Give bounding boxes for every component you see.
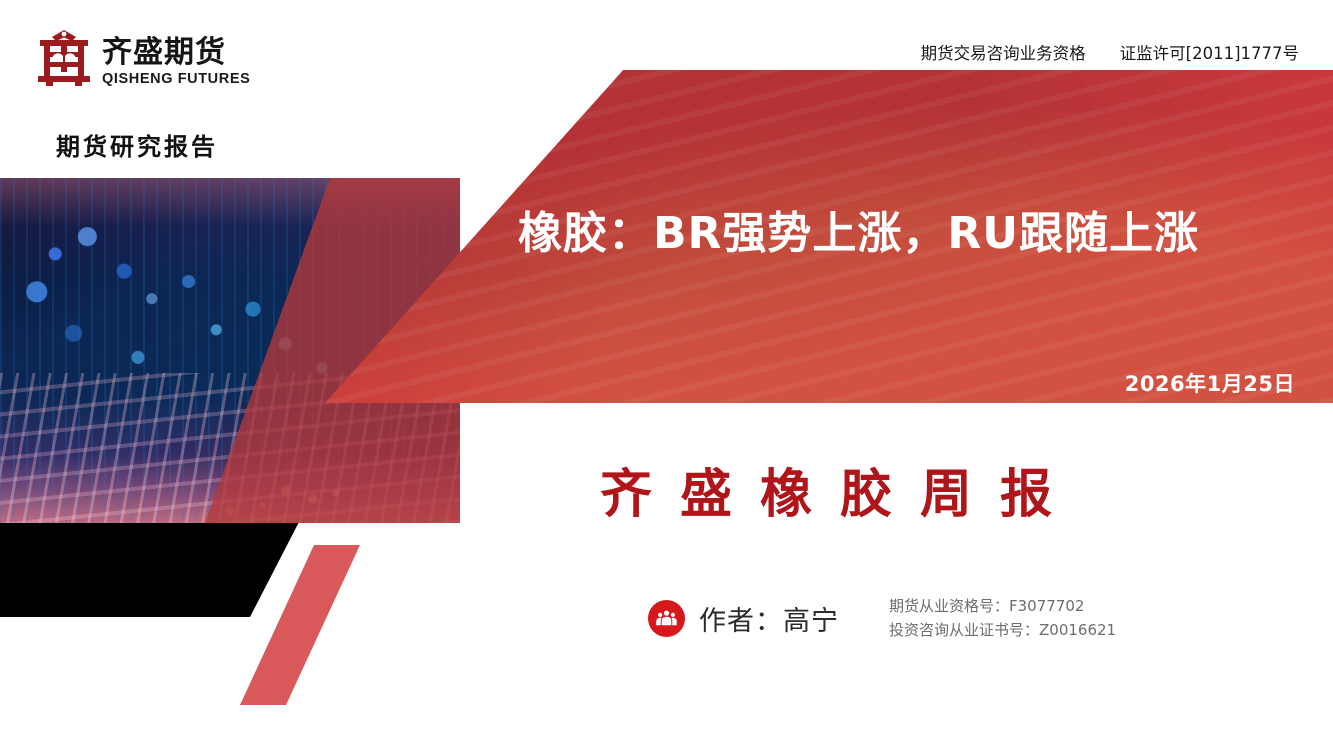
qisheng-seal-logo-icon bbox=[36, 28, 92, 86]
people-group-icon bbox=[648, 600, 685, 637]
people-group-glyph bbox=[655, 607, 678, 630]
business-qualification-text: 期货交易咨询业务资格 bbox=[921, 40, 1086, 64]
logo-wordmark: 齐盛期货 QISHENG FUTURES bbox=[102, 38, 250, 87]
author-block: 作者：高宁 期货从业资格号：F3077702 投资咨询从业证书号：Z001662… bbox=[648, 598, 1116, 640]
logo-name-en: QISHENG FUTURES bbox=[102, 72, 250, 87]
company-logo: 齐盛期货 QISHENG FUTURES bbox=[36, 28, 250, 86]
black-wedge-shape bbox=[0, 520, 300, 617]
page-header: 齐盛期货 QISHENG FUTURES 期货交易咨询业务资格 证监许可[201… bbox=[0, 0, 1333, 70]
header-credentials: 期货交易咨询业务资格 证监许可[2011]1777号 bbox=[921, 40, 1299, 64]
investment-consulting-number: 投资咨询从业证书号：Z0016621 bbox=[889, 622, 1116, 639]
logo-name-cn: 齐盛期货 bbox=[102, 38, 250, 68]
csrc-license-text: 证监许可[2011]1777号 bbox=[1120, 40, 1299, 64]
futures-practitioner-number: 期货从业资格号：F3077702 bbox=[889, 598, 1116, 615]
author-credentials: 期货从业资格号：F3077702 投资咨询从业证书号：Z0016621 bbox=[889, 598, 1116, 640]
report-date: 2026年1月25日 bbox=[1125, 368, 1295, 398]
report-cover-page: 齐盛期货 QISHENG FUTURES 期货交易咨询业务资格 证监许可[201… bbox=[0, 0, 1333, 750]
author-name: 作者：高宁 bbox=[699, 599, 839, 638]
report-title: 橡胶：BR强势上涨，RU跟随上涨 bbox=[518, 212, 1199, 256]
report-category-label: 期货研究报告 bbox=[56, 127, 218, 162]
publication-title: 齐盛橡胶周报 bbox=[600, 462, 1080, 527]
